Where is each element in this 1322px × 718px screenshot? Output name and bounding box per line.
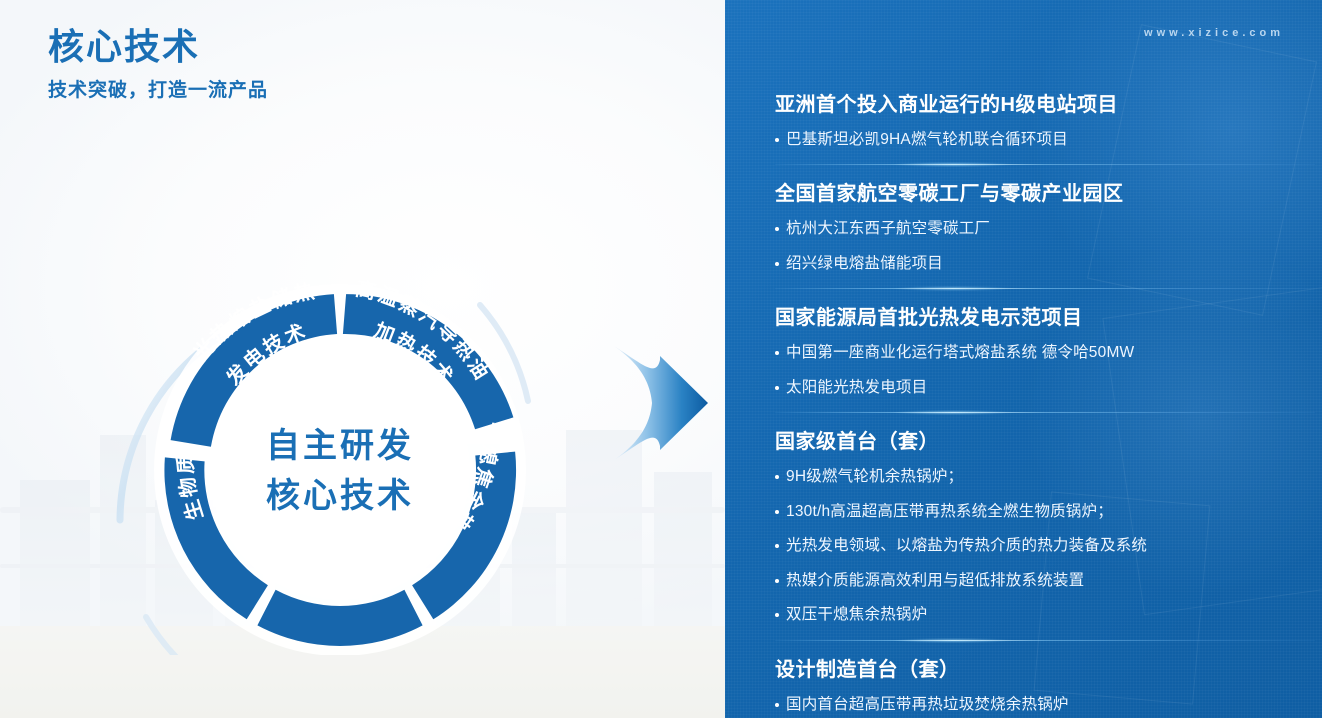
bullet-icon (775, 386, 779, 390)
section-divider (775, 412, 1315, 413)
section-5-heading: 设计制造首台（套） (775, 657, 1315, 683)
list-item-text: 巴基斯坦必凯9HA燃气轮机联合循环项目 (786, 129, 1068, 151)
list-item-text: 9H级燃气轮机余热锅炉； (786, 466, 963, 488)
slide-root: 核心技术 技术突破，打造一流产品 (0, 0, 1322, 718)
list-item: 热媒介质能源高效利用与超低排放系统装置 (775, 570, 1315, 592)
section-4: 国家级首台（套） 9H级燃气轮机余热锅炉； 130t/h高温超高压带再热系统全燃… (775, 429, 1315, 626)
section-4-heading: 国家级首台（套） (775, 429, 1315, 455)
list-item-text: 双压干熄焦余热锅炉 (786, 604, 927, 626)
section-1-heading: 亚洲首个投入商业运行的H级电站项目 (775, 92, 1315, 118)
section-2-heading: 全国首家航空零碳工厂与零碳产业园区 (775, 181, 1315, 207)
list-item: 中国第一座商业化运行塔式熔盐系统 德令哈50MW (775, 342, 1315, 364)
left-panel: 核心技术 技术突破，打造一流产品 (0, 0, 725, 718)
list-item-text: 杭州大江东西子航空零碳工厂 (786, 218, 990, 240)
page-subtitle: 技术突破，打造一流产品 (48, 75, 268, 102)
list-item: 光热发电领域、以熔盐为传热介质的热力装备及系统 (775, 535, 1315, 557)
bullet-icon (775, 544, 779, 548)
list-item: 太阳能光热发电项目 (775, 377, 1315, 399)
bullet-icon (775, 138, 779, 142)
bullet-icon (775, 262, 779, 266)
site-url: www.xizice.com (1144, 27, 1284, 39)
list-item: 国内首台超高压带再热垃圾焚烧余热锅炉 (775, 694, 1315, 716)
bullet-icon (775, 475, 779, 479)
right-arrow-icon (614, 346, 708, 460)
flow-arrow (612, 338, 722, 468)
list-item: 双压干熄焦余热锅炉 (775, 604, 1315, 626)
section-divider (775, 640, 1315, 641)
section-5: 设计制造首台（套） 国内首台超高压带再热垃圾焚烧余热锅炉 (775, 657, 1315, 716)
list-item-text: 130t/h高温超高压带再热系统全燃生物质锅炉； (786, 501, 1113, 523)
list-item-text: 光热发电领域、以熔盐为传热介质的热力装备及系统 (786, 535, 1147, 557)
section-divider (775, 288, 1315, 289)
list-item: 杭州大江东西子航空零碳工厂 (775, 218, 1315, 240)
section-1: 亚洲首个投入商业运行的H级电站项目 巴基斯坦必凯9HA燃气轮机联合循环项目 (775, 92, 1315, 151)
list-item-text: 热媒介质能源高效利用与超低排放系统装置 (786, 570, 1084, 592)
list-item: 130t/h高温超高压带再热系统全燃生物质锅炉； (775, 501, 1315, 523)
list-item: 9H级燃气轮机余热锅炉； (775, 466, 1315, 488)
bullet-icon (775, 227, 779, 231)
section-2: 全国首家航空零碳工厂与零碳产业园区 杭州大江东西子航空零碳工厂 绍兴绿电熔盐储能… (775, 181, 1315, 275)
list-item-text: 太阳能光热发电项目 (786, 377, 927, 399)
bullet-icon (775, 613, 779, 617)
donut-center-line1: 自主研发 (266, 427, 414, 465)
core-technology-donut: 光热熔盐储热 发电技术 高温蒸汽导热油 加热技术 干熄焦余热 (60, 165, 620, 655)
right-panel: www.xizice.com 亚洲首个投入商业运行的H级电站项目 巴基斯坦必凯9… (725, 0, 1322, 718)
bullet-icon (775, 510, 779, 514)
page-title: 核心技术 (48, 24, 268, 69)
list-item: 巴基斯坦必凯9HA燃气轮机联合循环项目 (775, 129, 1315, 151)
list-item-text: 中国第一座商业化运行塔式熔盐系统 德令哈50MW (786, 342, 1134, 364)
bullet-icon (775, 351, 779, 355)
decor-arc-lower (146, 617, 198, 655)
title-block: 核心技术 技术突破，打造一流产品 (48, 24, 268, 102)
section-divider (775, 164, 1315, 165)
donut-center-line2: 核心技术 (266, 477, 414, 515)
list-item-text: 绍兴绿电熔盐储能项目 (786, 253, 943, 275)
section-3: 国家能源局首批光热发电示范项目 中国第一座商业化运行塔式熔盐系统 德令哈50MW… (775, 305, 1315, 399)
list-item: 绍兴绿电熔盐储能项目 (775, 253, 1315, 275)
bullet-icon (775, 579, 779, 583)
bullet-icon (775, 703, 779, 707)
achievement-sections: 亚洲首个投入商业运行的H级电站项目 巴基斯坦必凯9HA燃气轮机联合循环项目 全国… (775, 92, 1315, 718)
list-item-text: 国内首台超高压带再热垃圾焚烧余热锅炉 (786, 694, 1069, 716)
section-3-heading: 国家能源局首批光热发电示范项目 (775, 305, 1315, 331)
